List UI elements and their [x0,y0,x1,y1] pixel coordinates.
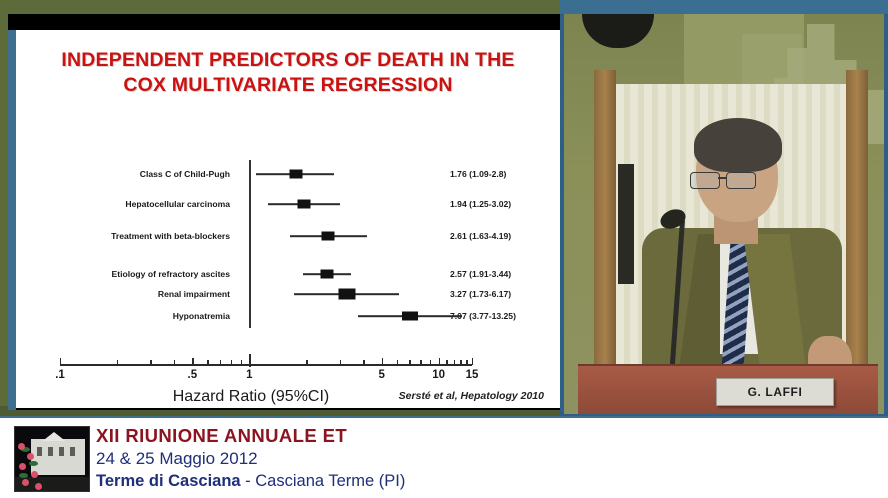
venue-photo-building [31,439,85,475]
forest-plot: Class C of Child-PughHepatocellular carc… [16,126,560,408]
x-axis-tick-label: 1 [246,369,252,381]
venue-photo-flower [35,483,42,490]
venue-photo-window [48,447,53,456]
x-axis-tick-label: 5 [378,369,384,381]
event-venue-city: - Casciana Terme (PI) [241,472,406,490]
x-axis-tick-label: 10 [432,369,445,381]
venue-photo-flower [18,443,25,450]
x-axis-tick [439,358,440,365]
forest-row-value: 1.76 (1.09-2.8) [450,169,506,179]
venue-photo-flower [22,479,29,486]
point-estimate-marker [322,232,335,241]
x-axis-minor-tick [397,360,398,364]
x-axis-tick [382,358,383,365]
venue-photo-flower [27,453,34,460]
x-axis-minor-tick [454,360,455,364]
slide-citation: Sersté et al, Hepatology 2010 [399,390,544,402]
x-axis-minor-tick [430,360,431,364]
forest-row-value: 1.94 (1.25-3.02) [450,199,511,209]
event-venue-name: Terme di Casciana [96,472,241,490]
x-axis-tick-label: .5 [188,369,198,381]
point-estimate-marker [338,289,355,300]
x-axis-minor-tick [241,360,242,364]
x-axis-minor-tick [306,360,307,364]
glasses-lens-left [690,172,720,189]
point-estimate-marker [402,312,418,321]
speaker-nameplate: G. LAFFI [716,378,834,406]
x-axis-tick-label: 15 [466,369,479,381]
dark-wall-slot [618,164,634,284]
x-axis-line [60,364,472,366]
forest-row-label: Renal impairment [158,289,230,299]
forest-row-label: Hyponatremia [173,311,230,321]
venue-photo-foliage [29,461,38,466]
video-feed[interactable]: G. LAFFI [564,14,884,414]
x-axis-minor-tick [231,360,232,364]
x-axis-tick [192,358,193,365]
event-banner: XII RIUNIONE ANNUALE ET 24 & 25 Maggio 2… [0,416,888,498]
reference-line [249,160,251,328]
slide-title-line-1: INDEPENDENT PREDICTORS OF DEATH IN THE [16,48,560,73]
forest-row-value: 3.27 (1.73-6.17) [450,289,511,299]
event-banner-text: XII RIUNIONE ANNUALE ET 24 & 25 Maggio 2… [96,424,856,493]
video-top-bar [560,0,888,14]
x-axis-tick [472,358,473,365]
forest-row-label: Etiology of refractory ascites [112,269,230,279]
x-axis-minor-tick [207,360,208,364]
venue-photo-foliage [19,473,28,478]
forest-row-label: Class C of Child-Pugh [140,169,230,179]
slide-title: INDEPENDENT PREDICTORS OF DEATH IN THE C… [16,48,560,98]
presentation-slide: INDEPENDENT PREDICTORS OF DEATH IN THE C… [16,30,560,408]
x-axis-minor-tick [220,360,221,364]
glasses-lens-right [726,172,756,189]
forest-row-label: Hepatocellular carcinoma [125,199,230,209]
x-axis-minor-tick [466,360,467,364]
forest-row-value: 2.61 (1.63-4.19) [450,231,511,241]
glasses-bridge [718,177,726,179]
point-estimate-marker [320,270,333,279]
point-estimate-marker [297,200,310,209]
x-axis-minor-tick [409,360,410,364]
event-dates: 24 & 25 Maggio 2012 [96,447,856,470]
screenshot-root: INDEPENDENT PREDICTORS OF DEATH IN THE C… [0,0,888,498]
x-axis-minor-tick [420,360,421,364]
venue-photo-window [59,447,64,456]
x-axis-minor-tick [460,360,461,364]
event-venue: Terme di Casciana - Casciana Terme (PI) [96,470,856,493]
x-axis-minor-tick [363,360,364,364]
slide-title-line-2: COX MULTIVARIATE REGRESSION [16,73,560,98]
olive-top-strip [0,0,560,14]
x-axis-tick [60,358,61,365]
venue-photo-flower [19,463,26,470]
point-estimate-marker [289,170,302,179]
x-axis-minor-tick [117,360,118,364]
slide-left-accent-bar [8,30,16,410]
glasses-icon [690,172,768,187]
x-axis-tick [249,354,251,367]
event-title: XII RIUNIONE ANNUALE ET [96,424,856,447]
video-panel[interactable]: G. LAFFI [560,0,888,420]
venue-photo-flower [31,471,38,478]
x-axis-tick-label: .1 [55,369,65,381]
venue-photo [14,426,90,492]
wood-pillar-left [594,70,616,400]
venue-photo-window [70,447,75,456]
forest-row-label: Treatment with beta-blockers [111,231,230,241]
speaker-name-text: G. LAFFI [748,385,803,399]
x-axis-minor-tick [340,360,341,364]
venue-photo-window [37,447,42,456]
x-axis-minor-tick [150,360,151,364]
x-axis-minor-tick [446,360,447,364]
speaker-hair [694,118,782,172]
forest-row-value: 2.57 (1.91-3.44) [450,269,511,279]
x-axis-minor-tick [174,360,175,364]
